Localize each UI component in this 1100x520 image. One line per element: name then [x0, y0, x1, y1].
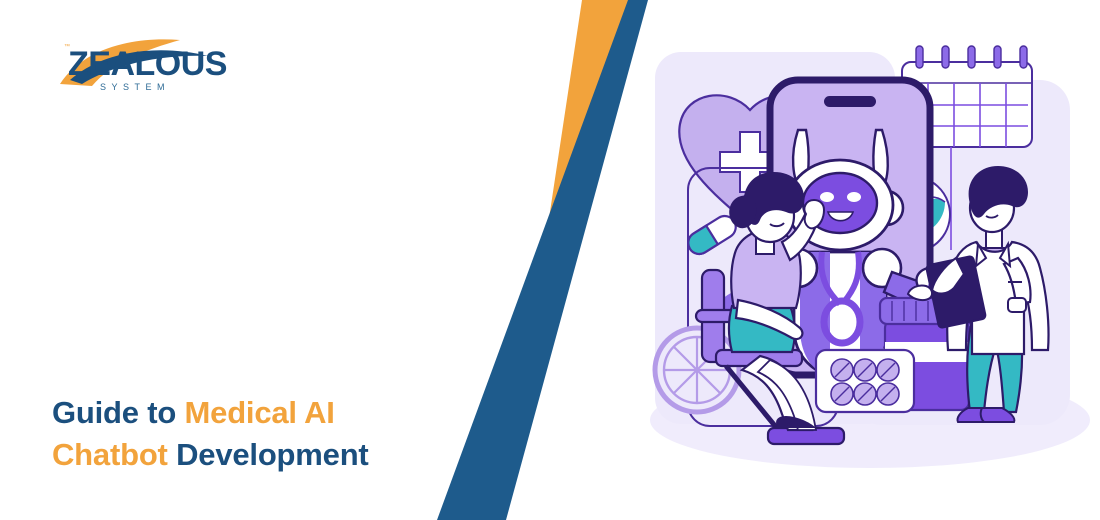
headline-text-development: Development [168, 437, 369, 472]
logo-trademark: ™ [64, 43, 70, 50]
logo-subtext: SYSTEM [100, 82, 170, 92]
headline-line-1: Guide to Medical AI [52, 392, 452, 434]
page-title: Guide to Medical AI Chatbot Development [52, 392, 452, 476]
banner-root: ZEALOUS ™ SYSTEM Guide to Medical AI Cha… [0, 0, 1100, 520]
diagonal-stripe-orange [540, 0, 630, 278]
robot-eye-left [820, 192, 834, 202]
phone-speaker [824, 96, 876, 107]
doctor-hand-left [908, 285, 932, 300]
headline-text-guide-to: Guide to [52, 395, 185, 430]
pill-blister-pack-icon [816, 350, 914, 412]
logo-wordmark: ZEALOUS [68, 45, 227, 83]
headline-text-medical-ai: Medical AI [185, 395, 335, 430]
robot-eye-right [847, 192, 861, 202]
diagonal-stripe-blue [437, 0, 648, 520]
brand-logo[interactable]: ZEALOUS ™ SYSTEM [52, 34, 252, 94]
headline-line-2: Chatbot Development [52, 434, 452, 476]
medical-ai-chatbot-illustration [620, 20, 1100, 500]
zealous-system-logo-mark: ZEALOUS ™ SYSTEM [52, 34, 252, 94]
headline-text-chatbot: Chatbot [52, 437, 168, 472]
doctor-cuff [1008, 298, 1026, 312]
